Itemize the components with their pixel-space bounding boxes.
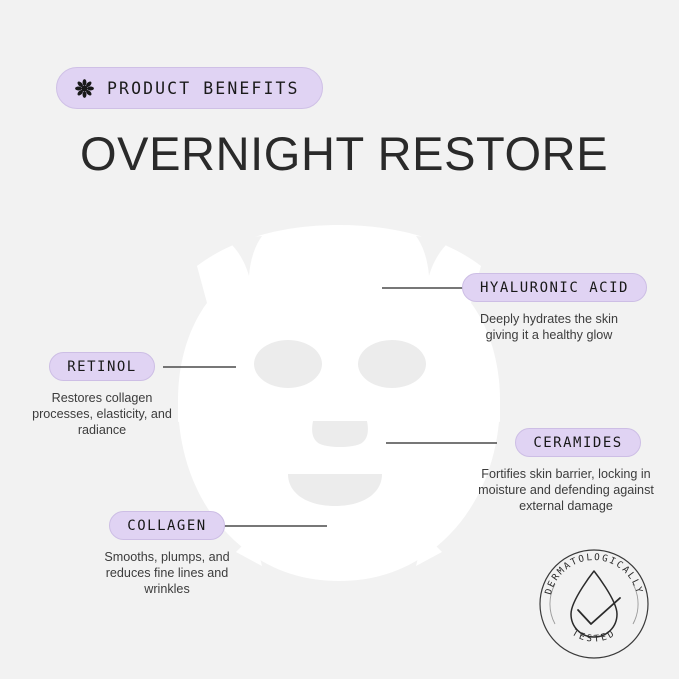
callout-description-ceramides: Fortifies skin barrier, locking in moist… <box>469 466 663 514</box>
eye-cutout-left <box>254 340 322 388</box>
seal-top-text: DERMATOLOGICALLY <box>543 552 645 596</box>
eye-cutout-right <box>358 340 426 388</box>
callout-description-retinol: Restores collagen processes, elasticity,… <box>32 390 172 438</box>
page-title: OVERNIGHT RESTORE <box>80 126 608 181</box>
water-droplet-check-icon <box>571 571 620 637</box>
callout-retinol: RETINOL Restores collagen processes, ela… <box>32 352 172 438</box>
asterisk-flower-icon <box>75 79 94 98</box>
callout-label-collagen: COLLAGEN <box>109 511 224 540</box>
callout-description-collagen: Smooths, plumps, and reduces fine lines … <box>92 549 242 597</box>
callout-label-hyaluronic-acid: HYALURONIC ACID <box>462 273 647 302</box>
callout-label-retinol: RETINOL <box>49 352 155 381</box>
callout-hyaluronic-acid: HYALURONIC ACID Deeply hydrates the skin… <box>462 273 636 343</box>
product-benefits-infographic: PRODUCT BENEFITS OVERNIGHT RESTORE HYALU… <box>0 0 679 679</box>
badge-label: PRODUCT BENEFITS <box>107 79 300 98</box>
nose-cutout <box>312 421 368 447</box>
callout-label-ceramides: CERAMIDES <box>515 428 640 457</box>
callout-ceramides: CERAMIDES Fortifies skin barrier, lockin… <box>493 428 663 514</box>
dermatologically-tested-seal: DERMATOLOGICALLY TESTED <box>538 548 650 660</box>
product-benefits-badge: PRODUCT BENEFITS <box>56 67 323 109</box>
callout-collagen: COLLAGEN Smooths, plumps, and reduces fi… <box>98 511 236 597</box>
callout-description-hyaluronic-acid: Deeply hydrates the skin giving it a hea… <box>466 311 632 343</box>
